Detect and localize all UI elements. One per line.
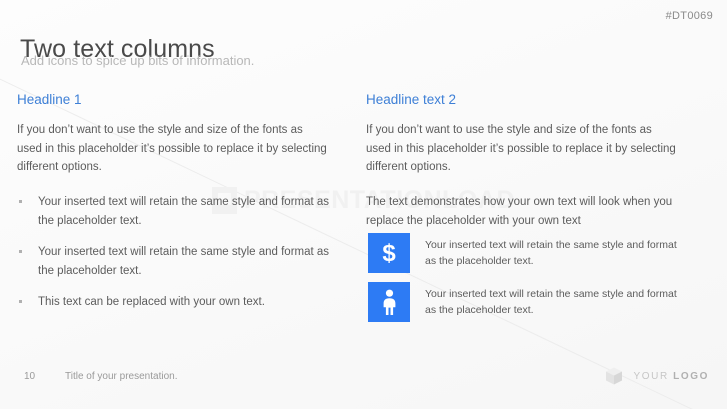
right-column-paragraph-1: If you don’t want to use the style and s… [366,121,679,177]
slide-id-label: #DT0069 [666,10,713,22]
slide-canvas: PRESENTATIONLOAD #DT0069 Two text column… [0,0,727,409]
left-column-bullet-list: Your inserted text will retain the same … [17,193,330,312]
right-column-paragraph-2: The text demonstrates how your own text … [366,193,679,230]
left-column: Headline 1 If you don’t want to use the … [17,92,330,325]
icon-row-text: Your inserted text will retain the same … [410,233,688,270]
list-item: Your inserted text will retain the same … [17,243,330,280]
logo: YOUR LOGO [603,365,709,387]
page-subtitle: Add icons to spice up bits of informatio… [21,53,254,68]
footer-presentation-title: Title of your presentation. [65,371,177,382]
icon-row-group: $ Your inserted text will retain the sam… [368,233,688,331]
right-column-headline: Headline text 2 [366,92,679,107]
left-column-paragraph: If you don’t want to use the style and s… [17,121,330,177]
logo-text-light: YOUR [633,371,673,382]
svg-text:$: $ [382,240,396,266]
footer-page-number: 10 [24,371,35,382]
list-item: Your inserted text will retain the same … [17,193,330,230]
icon-row-text: Your inserted text will retain the same … [410,282,688,319]
logo-text-bold: LOGO [673,371,709,382]
list-item: This text can be replaced with your own … [17,293,330,312]
icon-row-dollar: $ Your inserted text will retain the sam… [368,233,688,273]
dollar-sign-icon: $ [368,233,410,273]
logo-text: YOUR LOGO [633,371,709,382]
left-column-headline: Headline 1 [17,92,330,107]
cube-icon [603,365,625,387]
right-column: Headline text 2 If you don’t want to use… [366,92,679,246]
icon-row-person: Your inserted text will retain the same … [368,282,688,322]
person-icon [368,282,410,322]
